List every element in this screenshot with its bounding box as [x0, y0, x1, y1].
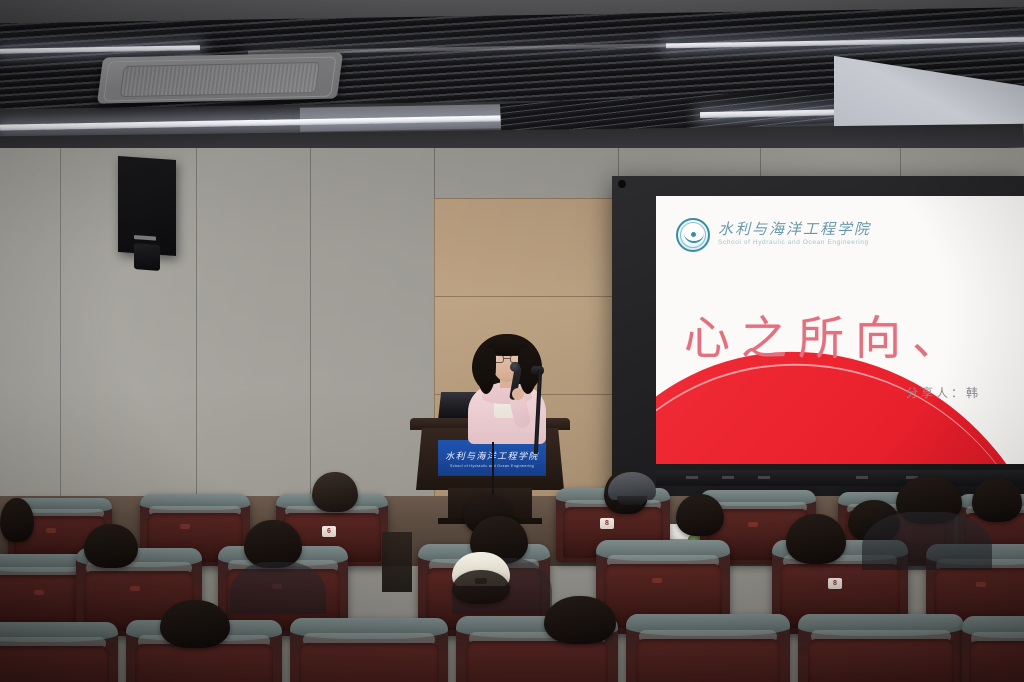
speaker-brand-label [134, 235, 156, 241]
audience-shoulders [862, 512, 992, 570]
audience-head [84, 524, 138, 568]
projection-screen[interactable]: 水利与海洋工程学院 School of Hydraulic and Ocean … [612, 176, 1024, 498]
aisle-gap [382, 532, 412, 592]
wall-speaker-icon [118, 156, 176, 256]
audience-head [544, 596, 616, 644]
slide-title: 心之所向、 [684, 302, 969, 368]
ceiling-cassette-ac-icon [97, 52, 343, 103]
seat-number-plate: 8 [828, 578, 842, 589]
seat[interactable] [798, 614, 964, 682]
lecture-hall-photo: 水利与海洋工程学院 School of Hydraulic and Ocean … [0, 0, 1024, 682]
presenter-hand [512, 388, 524, 400]
seat-number-plate: 6 [322, 526, 336, 537]
audience-shoulders [230, 562, 326, 614]
seat[interactable] [0, 622, 118, 682]
audience-head [786, 514, 846, 564]
presenter-person [462, 332, 552, 442]
slide-school-name-en: School of Hydraulic and Ocean Engineerin… [718, 239, 869, 246]
audience-head [972, 478, 1022, 522]
school-emblem-icon [676, 218, 710, 252]
audience-head [244, 520, 302, 568]
seat-number-plate: 8 [600, 518, 614, 529]
speaker-mount-bracket [134, 243, 160, 271]
audience-head [676, 494, 724, 536]
seat[interactable] [626, 614, 790, 682]
screen-mount-clip [618, 180, 626, 188]
seat[interactable] [962, 616, 1024, 682]
slide-school-name-cn: 水利与海洋工程学院 [718, 218, 871, 239]
audience-head [452, 570, 510, 604]
audience-head [312, 472, 358, 512]
audience-head [160, 600, 230, 648]
ceiling [0, 0, 1024, 152]
audience-head [0, 498, 34, 542]
seat[interactable] [290, 618, 448, 682]
audience-seating: 6 8 9 [0, 470, 1024, 682]
slide-presenter-credit: 分享人：韩 [906, 384, 981, 401]
slide-content: 水利与海洋工程学院 School of Hydraulic and Ocean … [656, 196, 1024, 464]
gray-cap-icon [608, 472, 656, 500]
microphone-head-icon [510, 362, 520, 372]
